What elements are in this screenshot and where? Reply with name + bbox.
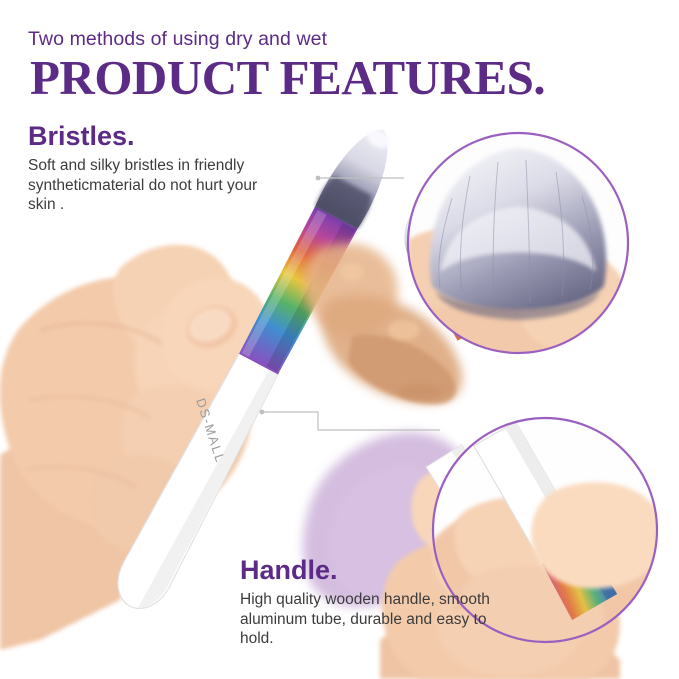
bristle-closeup-circle <box>408 133 628 366</box>
feature-body-handle: High quality wooden handle, smooth alumi… <box>240 590 490 649</box>
feature-block-bristles: Bristles. Soft and silky bristles in fri… <box>28 122 258 215</box>
page-subtitle: Two methods of using dry and wet <box>28 28 327 51</box>
feature-body-bristles: Soft and silky bristles in friendly synt… <box>28 156 258 215</box>
product-feature-infographic: DS-MALL <box>0 0 679 679</box>
page-title: PRODUCT FEATURES. <box>30 52 545 103</box>
feature-title-bristles: Bristles. <box>28 122 258 152</box>
feature-title-handle: Handle. <box>240 556 490 586</box>
feature-block-handle: Handle. High quality wooden handle, smoo… <box>240 556 490 649</box>
